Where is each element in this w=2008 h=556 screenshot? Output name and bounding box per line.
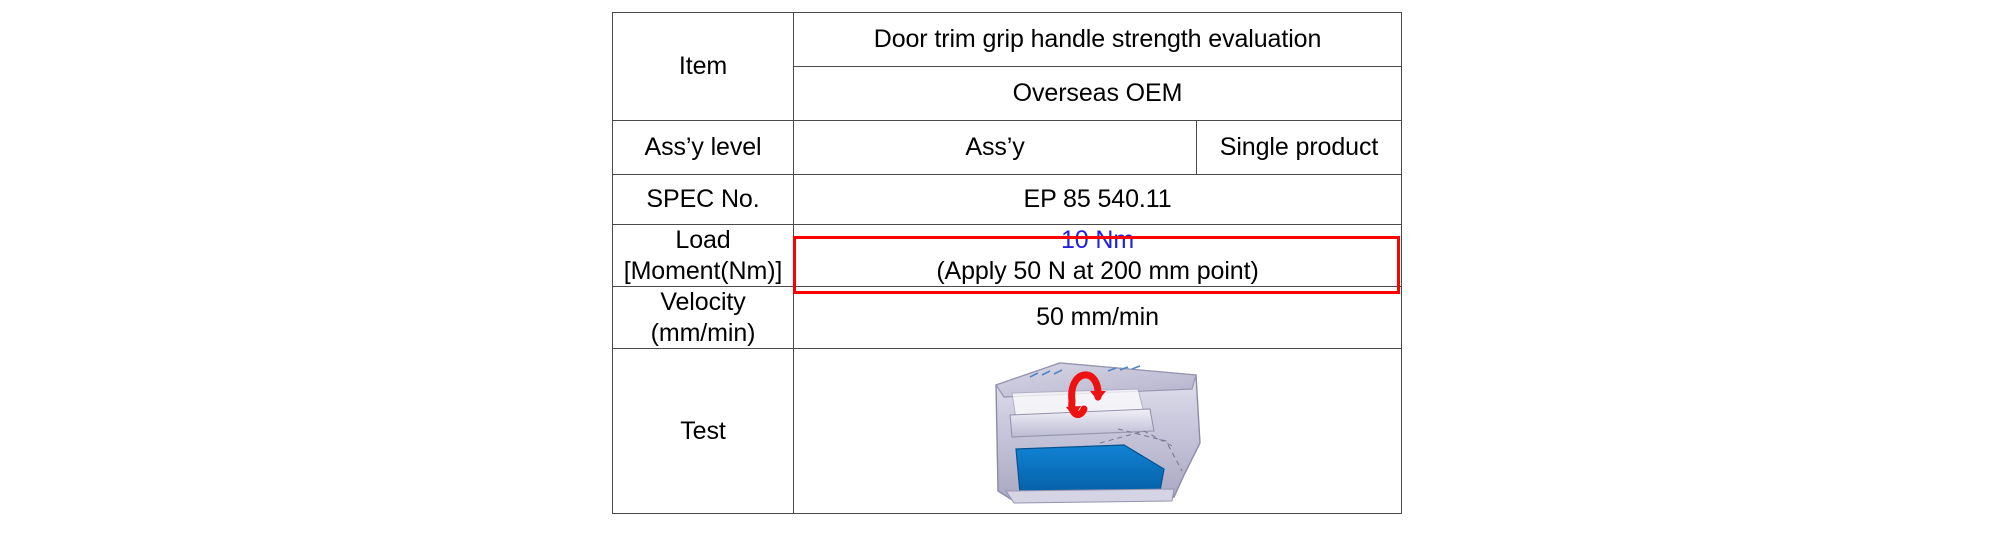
row-label-assy-level: Ass’y level: [613, 121, 794, 175]
table-row: Load [Moment(Nm)] 10 Nm (Apply 50 N at 2…: [613, 225, 1402, 287]
spec-table: Item Door trim grip handle strength eval…: [612, 12, 1402, 514]
row-label-velocity: Velocity (mm/min): [613, 287, 794, 349]
table-row: Velocity (mm/min) 50 mm/min: [613, 287, 1402, 349]
table-row: Ass’y level Ass’y Single product: [613, 121, 1402, 175]
cell-overseas-oem: Overseas OEM: [794, 67, 1402, 121]
row-label-load-line2: [Moment(Nm)]: [624, 257, 783, 285]
cell-load-value: 10 Nm (Apply 50 N at 200 mm point): [794, 225, 1402, 287]
row-label-load-line1: Load: [675, 226, 730, 254]
panel-lower-sill: [1006, 489, 1174, 503]
cell-assy: Ass’y: [794, 121, 1197, 175]
cell-test-illustration: [794, 349, 1402, 514]
row-label-item: Item: [613, 13, 794, 121]
load-application-note: (Apply 50 N at 200 mm point): [794, 256, 1401, 287]
door-trim-panel-icon: [968, 351, 1228, 511]
row-label-load: Load [Moment(Nm)]: [613, 225, 794, 287]
table-row: Item Door trim grip handle strength eval…: [613, 13, 1402, 67]
illustration-container: [794, 351, 1401, 511]
cell-single-product: Single product: [1197, 121, 1402, 175]
document-canvas: Item Door trim grip handle strength eval…: [0, 0, 2008, 556]
row-label-test: Test: [613, 349, 794, 514]
row-label-velocity-line1: Velocity: [660, 288, 745, 316]
row-label-velocity-line2: (mm/min): [651, 319, 756, 347]
row-label-spec-no: SPEC No.: [613, 175, 794, 225]
table-row: Test: [613, 349, 1402, 514]
cell-spec-number: EP 85 540.11: [794, 175, 1402, 225]
cell-evaluation-title: Door trim grip handle strength evaluatio…: [794, 13, 1402, 67]
load-moment-value: 10 Nm: [794, 225, 1401, 256]
table-row: SPEC No. EP 85 540.11: [613, 175, 1402, 225]
cell-velocity-value: 50 mm/min: [794, 287, 1402, 349]
